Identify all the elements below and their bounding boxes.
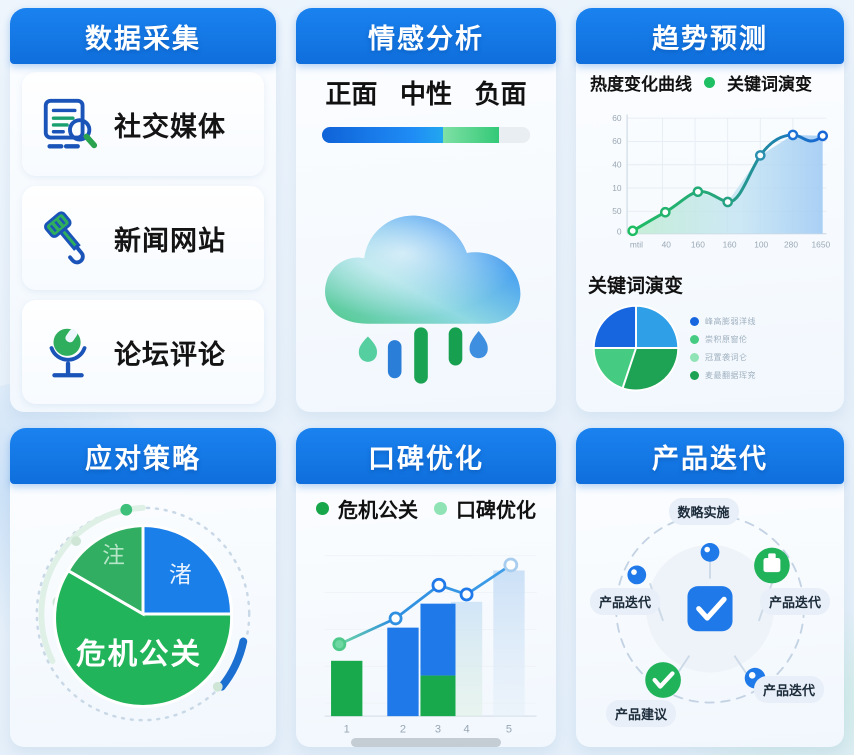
rain-cloud-icon xyxy=(308,149,544,395)
card-header: 数据采集 xyxy=(10,8,276,64)
sentiment-label-neutral: 中性 xyxy=(400,74,452,111)
cycle-node-bottom-left[interactable]: 产品建议 xyxy=(606,700,676,727)
x-tick-label: 4 xyxy=(463,724,469,736)
scroll-indicator[interactable] xyxy=(351,738,501,747)
legend-item[interactable]: 崇积原窗伦 xyxy=(690,334,756,345)
y-tick-label: 50 xyxy=(612,206,622,216)
sentiment-labels: 正面 中性 负面 xyxy=(308,68,544,111)
legend-item[interactable]: 峰高膨弱洋线 xyxy=(690,316,756,327)
document-search-icon xyxy=(38,93,100,155)
x-tick-label: 160 xyxy=(691,240,705,250)
x-tick-label: 40 xyxy=(662,240,672,250)
source-label: 社交媒体 xyxy=(114,105,226,144)
y-tick-label: 10 xyxy=(612,183,622,193)
bar-chart-legend: 危机公关 口碑优化 xyxy=(308,488,544,525)
card-reputation-optimization[interactable]: 口碑优化 危机公关 口碑优化 xyxy=(296,428,556,747)
legend-label: 峰高膨弱洋线 xyxy=(705,316,756,327)
rain-cloud-illustration xyxy=(308,149,544,395)
x-tick-label: 1 xyxy=(344,724,350,736)
reputation-bar-line-chart[interactable]: 1 2 3 4 5 xyxy=(308,525,544,745)
card-body: 数略实施 产品迭代 产品迭代 产品迭代 产品建议 xyxy=(576,478,844,747)
card-data-collection[interactable]: 数据采集 xyxy=(10,8,276,412)
x-tick-label: mtil xyxy=(630,240,643,250)
pie-slice-label-blue: 渚 xyxy=(169,562,192,587)
cycle-node-top[interactable]: 数略实施 xyxy=(669,498,739,525)
card-response-strategy[interactable]: 应对策略 渚 注 危机公 xyxy=(10,428,276,747)
sentiment-progress-bar[interactable] xyxy=(322,127,530,143)
legend-label: 口碑优化 xyxy=(456,494,536,523)
legend-dot-icon xyxy=(690,317,699,326)
card-title: 口碑优化 xyxy=(368,437,484,476)
product-iteration-cycle: 数略实施 产品迭代 产品迭代 产品迭代 产品建议 xyxy=(588,488,832,735)
card-header: 情感分析 xyxy=(296,8,556,64)
cycle-node-bottom-right[interactable]: 产品迭代 xyxy=(754,676,824,703)
y-tick-label: 0 xyxy=(617,227,622,237)
card-sentiment-analysis[interactable]: 情感分析 正面 中性 负面 xyxy=(296,8,556,412)
x-tick-label: 1650 xyxy=(812,240,831,250)
strategy-pie-wrap: 渚 注 危机公关 xyxy=(22,488,264,735)
legend-label: 冠置袭词仑 xyxy=(705,352,748,363)
card-body: 渚 注 危机公关 xyxy=(10,478,276,747)
legend-dot-icon xyxy=(690,335,699,344)
source-item-forum-comments[interactable]: 论坛评论 xyxy=(22,300,264,404)
card-product-iteration[interactable]: 产品迭代 xyxy=(576,428,844,747)
card-body: 社交媒体 xyxy=(10,58,276,412)
cycle-node-right[interactable]: 产品迭代 xyxy=(760,588,830,615)
card-body: 热度变化曲线 关键词演变 xyxy=(576,58,844,412)
card-body: 正面 中性 负面 xyxy=(296,58,556,412)
trend-legend: 热度变化曲线 关键词演变 xyxy=(588,68,832,99)
sentiment-segment-negative xyxy=(499,127,530,143)
dashboard-board: 数据采集 xyxy=(0,0,854,755)
response-strategy-pie-chart[interactable]: 渚 注 危机公关 xyxy=(25,494,261,730)
card-header: 应对策略 xyxy=(10,428,276,484)
keyword-evolution-pie-chart[interactable] xyxy=(588,300,684,396)
x-tick-label: 160 xyxy=(723,240,737,250)
sentiment-segment-positive xyxy=(322,127,443,143)
heat-trend-line-chart[interactable]: 60 60 40 10 50 0 xyxy=(588,99,832,264)
pie-slice-label-main: 危机公关 xyxy=(76,638,202,671)
card-title: 产品迭代 xyxy=(652,437,768,476)
x-tick-label: 2 xyxy=(400,724,406,736)
legend-label: 崇积原窗伦 xyxy=(705,334,748,345)
legend-label: 危机公关 xyxy=(338,494,418,523)
sentiment-label-positive: 正面 xyxy=(325,74,377,111)
card-title: 数据采集 xyxy=(85,17,201,56)
microphone-icon xyxy=(38,321,100,383)
cycle-node-left[interactable]: 产品迭代 xyxy=(590,588,660,615)
keyword-pie-title: 关键词演变 xyxy=(588,271,832,298)
keyword-evolution-pie-section: 峰高膨弱洋线 崇积原窗伦 冠置袭词仑 麦最翻据珲兖 xyxy=(588,300,832,396)
legend-dot-icon xyxy=(316,502,329,515)
keyword-pie-legend: 峰高膨弱洋线 崇积原窗伦 冠置袭词仑 麦最翻据珲兖 xyxy=(690,316,756,381)
card-title: 情感分析 xyxy=(368,17,484,56)
legend-dot-icon xyxy=(434,502,447,515)
x-tick-label: 100 xyxy=(754,240,768,250)
legend-item[interactable]: 冠置袭词仑 xyxy=(690,352,756,363)
card-header: 产品迭代 xyxy=(576,428,844,484)
x-tick-label: 3 xyxy=(435,724,441,736)
source-item-news-sites[interactable]: 新闻网站 xyxy=(22,186,264,290)
y-tick-label: 40 xyxy=(612,160,622,170)
card-title: 趋势预测 xyxy=(652,17,768,56)
source-label: 论坛评论 xyxy=(114,333,226,372)
trend-legend-primary: 热度变化曲线 xyxy=(590,70,692,95)
trend-legend-secondary: 关键词演变 xyxy=(727,70,812,95)
legend-item[interactable]: 危机公关 xyxy=(316,494,418,523)
source-label: 新闻网站 xyxy=(114,219,226,258)
legend-dot-icon xyxy=(690,353,699,362)
source-list: 社交媒体 xyxy=(22,68,264,404)
sentiment-label-negative: 负面 xyxy=(475,74,527,111)
legend-label: 麦最翻据珲兖 xyxy=(705,370,756,381)
card-header: 趋势预测 xyxy=(576,8,844,64)
y-tick-label: 60 xyxy=(612,136,622,146)
x-tick-label: 280 xyxy=(784,240,798,250)
sentiment-segment-neutral xyxy=(443,127,499,143)
card-body: 危机公关 口碑优化 xyxy=(296,478,556,747)
x-tick-label: 5 xyxy=(506,724,512,736)
source-item-social-media[interactable]: 社交媒体 xyxy=(22,72,264,176)
paint-roller-icon xyxy=(38,207,100,269)
legend-dot-icon xyxy=(690,371,699,380)
legend-item[interactable]: 口碑优化 xyxy=(434,494,536,523)
legend-dot-icon xyxy=(704,77,715,88)
card-header: 口碑优化 xyxy=(296,428,556,484)
legend-item[interactable]: 麦最翻据珲兖 xyxy=(690,370,756,381)
y-tick-label: 60 xyxy=(612,113,622,123)
card-trend-forecast[interactable]: 趋势预测 热度变化曲线 关键词演变 xyxy=(576,8,844,412)
pie-slice-label-lightgreen: 注 xyxy=(102,542,125,567)
card-title: 应对策略 xyxy=(85,437,201,476)
